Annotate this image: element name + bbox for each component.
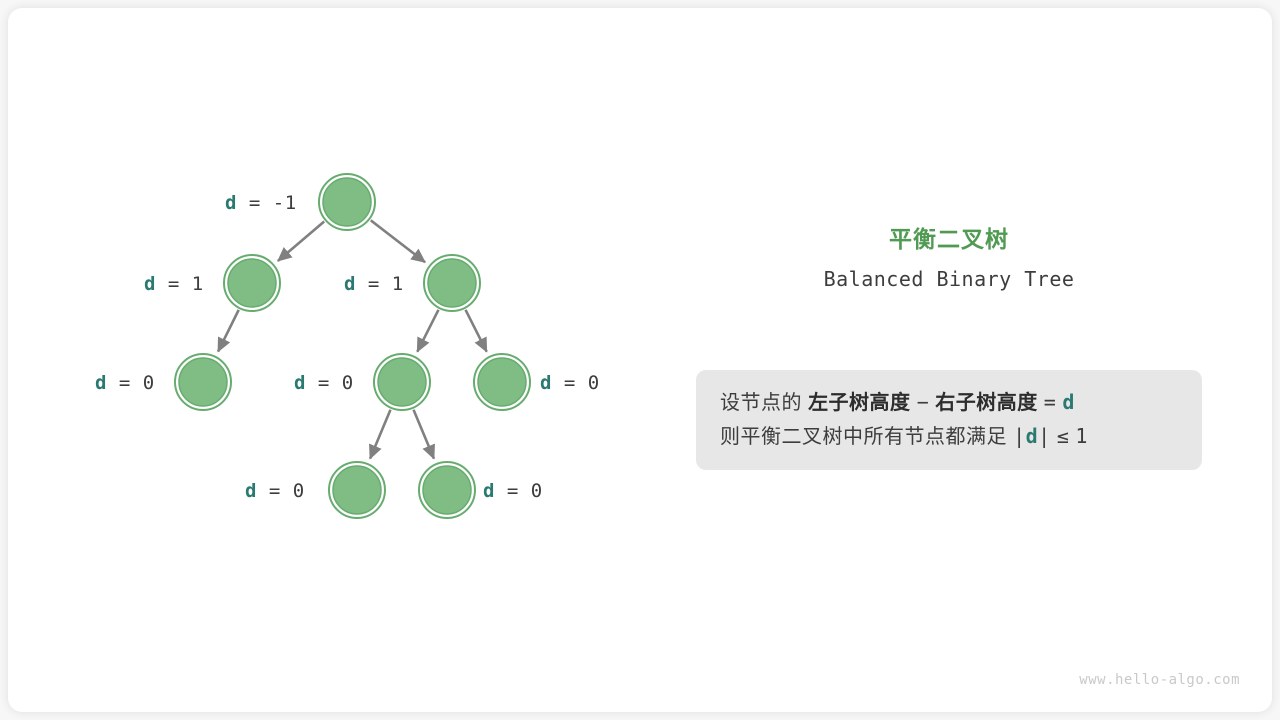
condition-prefix: 则平衡二叉树中所有节点都满足 (720, 426, 1007, 448)
node-balance-label: d = 0 (245, 480, 305, 502)
balance-variable: d (95, 372, 107, 394)
balance-variable: d (225, 192, 237, 214)
node-balance-label: d = 0 (483, 480, 543, 502)
balance-variable: d (540, 372, 552, 394)
binary-tree-graphic (0, 0, 1280, 720)
balance-variable: d (245, 480, 257, 502)
abs-bar-open: | (1013, 424, 1026, 448)
definition-line-2: 则平衡二叉树中所有节点都满足 |d| ≤ 1 (720, 420, 1202, 454)
tree-node-circle[interactable] (323, 178, 371, 226)
balance-value: 0 (143, 372, 155, 394)
tree-node-circle[interactable] (428, 259, 476, 307)
balance-variable: d (144, 273, 156, 295)
tree-edge (414, 410, 434, 459)
tree-edge (417, 310, 438, 352)
balance-variable: d (344, 273, 356, 295)
balance-value: 0 (293, 480, 305, 502)
tree-node-circle[interactable] (478, 358, 526, 406)
panel-title: 平衡二叉树 (696, 224, 1202, 254)
balance-equals: = (552, 372, 588, 394)
tree-node-circle[interactable] (333, 466, 381, 514)
balance-value: 0 (588, 372, 600, 394)
balance-value: 1 (192, 273, 204, 295)
definition-left-height: 左子树高度 (808, 392, 911, 414)
tree-edge (370, 410, 390, 459)
tree-edge (278, 221, 324, 260)
node-balance-label: d = 0 (95, 372, 155, 394)
definition-equals: = (1044, 390, 1057, 414)
balance-value: 0 (342, 372, 354, 394)
balance-equals: = (356, 273, 392, 295)
tree-nodes (175, 174, 530, 518)
tree-node-circle[interactable] (423, 466, 471, 514)
definition-box: 设节点的 左子树高度 − 右子树高度 = d 则平衡二叉树中所有节点都满足 |d… (696, 370, 1202, 470)
condition-operator: ≤ (1057, 424, 1070, 448)
diagram-canvas: d = -1d = 1d = 1d = 0d = 0d = 0d = 0d = … (0, 0, 1280, 720)
node-balance-label: d = 0 (540, 372, 600, 394)
balance-equals: = (495, 480, 531, 502)
condition-value: 1 (1075, 424, 1088, 448)
node-balance-label: d = -1 (225, 192, 297, 214)
balance-value: 1 (392, 273, 404, 295)
node-balance-label: d = 1 (344, 273, 404, 295)
balance-variable: d (294, 372, 306, 394)
balance-value: 0 (531, 480, 543, 502)
definition-variable-d: d (1062, 390, 1075, 414)
balance-variable: d (483, 480, 495, 502)
balance-equals: = (257, 480, 293, 502)
tree-node-circle[interactable] (378, 358, 426, 406)
tree-edge (466, 310, 487, 352)
tree-edge (371, 220, 425, 262)
definition-right-height: 右子树高度 (935, 392, 1038, 414)
tree-node-circle[interactable] (179, 358, 227, 406)
balance-equals: = (156, 273, 192, 295)
condition-variable-d: d (1026, 424, 1039, 448)
abs-bar-close: | (1038, 424, 1051, 448)
legend-panel: 平衡二叉树 Balanced Binary Tree (696, 224, 1202, 292)
definition-minus: − (917, 390, 930, 414)
panel-subtitle: Balanced Binary Tree (696, 266, 1202, 292)
definition-prefix: 设节点的 (720, 392, 802, 414)
watermark: www.hello-algo.com (1079, 672, 1240, 688)
balance-equals: = (107, 372, 143, 394)
node-balance-label: d = 1 (144, 273, 204, 295)
node-balance-label: d = 0 (294, 372, 354, 394)
balance-value: -1 (273, 192, 297, 214)
tree-edge (218, 310, 239, 352)
balance-equals: = (237, 192, 273, 214)
definition-line-1: 设节点的 左子树高度 − 右子树高度 = d (720, 386, 1202, 420)
balance-equals: = (306, 372, 342, 394)
tree-node-circle[interactable] (228, 259, 276, 307)
